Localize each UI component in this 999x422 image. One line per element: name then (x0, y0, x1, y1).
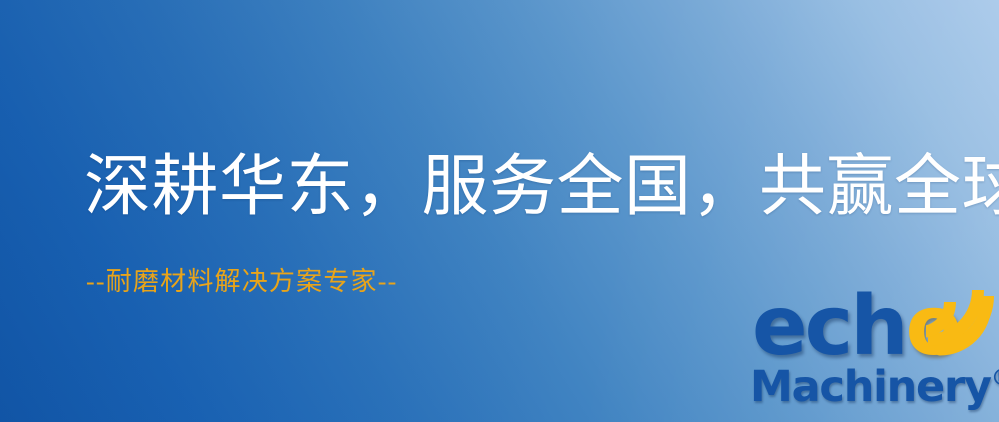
logo-text-o: o (906, 279, 959, 374)
logo-wordmark: echo (752, 286, 959, 368)
registered-trademark-icon: ® (991, 366, 999, 391)
logo-tagline-text: Machinery (750, 362, 991, 412)
banner-subtitle: --耐磨材料解决方案专家-- (86, 266, 397, 297)
promo-banner: 深耕华东，服务全国，共赢全球 --耐磨材料解决方案专家-- echo (0, 0, 999, 422)
logo-tagline: Machinery® (750, 366, 999, 409)
echo-machinery-logo: echo Machinery® (748, 294, 999, 422)
logo-text-ech: ech (752, 279, 906, 374)
banner-headline: 深耕华东，服务全国，共赢全球 (84, 152, 999, 222)
